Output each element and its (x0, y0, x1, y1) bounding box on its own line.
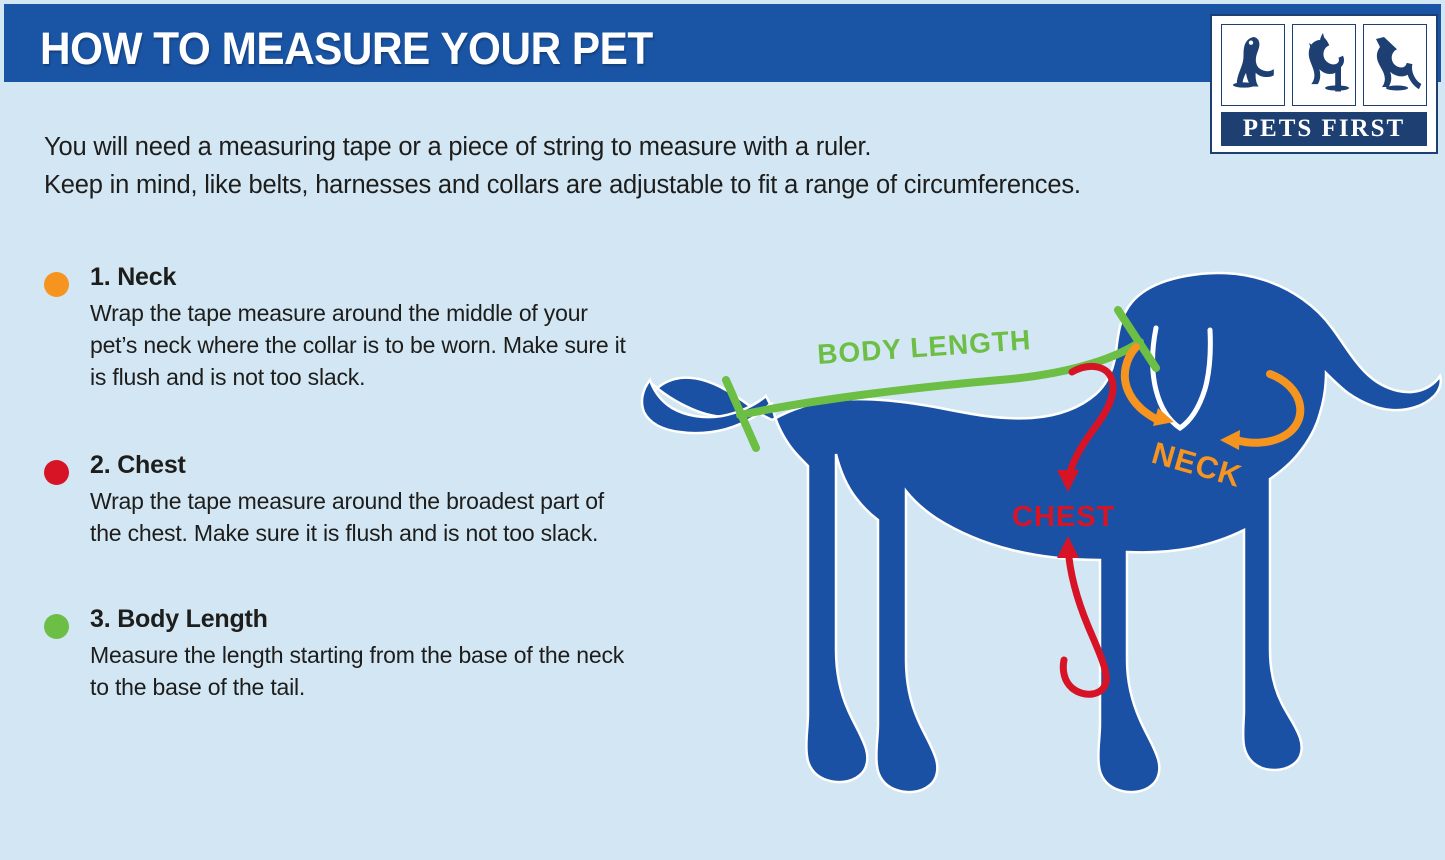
step-body-chest: Wrap the tape measure around the broades… (90, 485, 640, 549)
logo-icon-frames (1221, 24, 1427, 106)
step-item-chest: 2. Chest Wrap the tape measure around th… (40, 450, 640, 549)
pets-first-logo: PETS FIRST (1210, 14, 1438, 154)
dog-begging-icon (1293, 25, 1353, 105)
step-item-body-length: 3. Body Length Measure the length starti… (40, 604, 640, 703)
dog-measurement-diagram: BODY LENGTH NECK CHEST (640, 230, 1445, 860)
bullet-orange-icon (44, 272, 69, 297)
intro-text: You will need a measuring tape or a piec… (44, 128, 1204, 204)
intro-line-2: Keep in mind, like belts, harnesses and … (44, 166, 1204, 204)
bullet-red-icon (44, 460, 69, 485)
bullet-green-icon (44, 614, 69, 639)
infographic-page: HOW TO MEASURE YOUR PET (0, 0, 1445, 860)
dog-howling-icon (1364, 25, 1424, 105)
measurement-steps-list: 1. Neck Wrap the tape measure around the… (40, 262, 640, 703)
step-title-neck: 1. Neck (90, 262, 640, 292)
logo-frame-2 (1292, 24, 1356, 106)
logo-frame-3 (1363, 24, 1427, 106)
logo-wordmark: PETS FIRST (1243, 115, 1405, 143)
intro-line-1: You will need a measuring tape or a piec… (44, 128, 1204, 166)
label-body-length: BODY LENGTH (816, 324, 1032, 370)
step-title-chest: 2. Chest (90, 450, 640, 480)
step-body-body-length: Measure the length starting from the bas… (90, 639, 640, 703)
label-chest: CHEST (1012, 501, 1115, 533)
step-title-body-length: 3. Body Length (90, 604, 640, 634)
page-title: HOW TO MEASURE YOUR PET (40, 23, 653, 75)
step-item-neck: 1. Neck Wrap the tape measure around the… (40, 262, 640, 393)
logo-frame-1 (1221, 24, 1285, 106)
dog-sitting-icon (1222, 25, 1282, 105)
step-body-neck: Wrap the tape measure around the middle … (90, 297, 640, 393)
logo-banner: PETS FIRST (1221, 112, 1427, 146)
